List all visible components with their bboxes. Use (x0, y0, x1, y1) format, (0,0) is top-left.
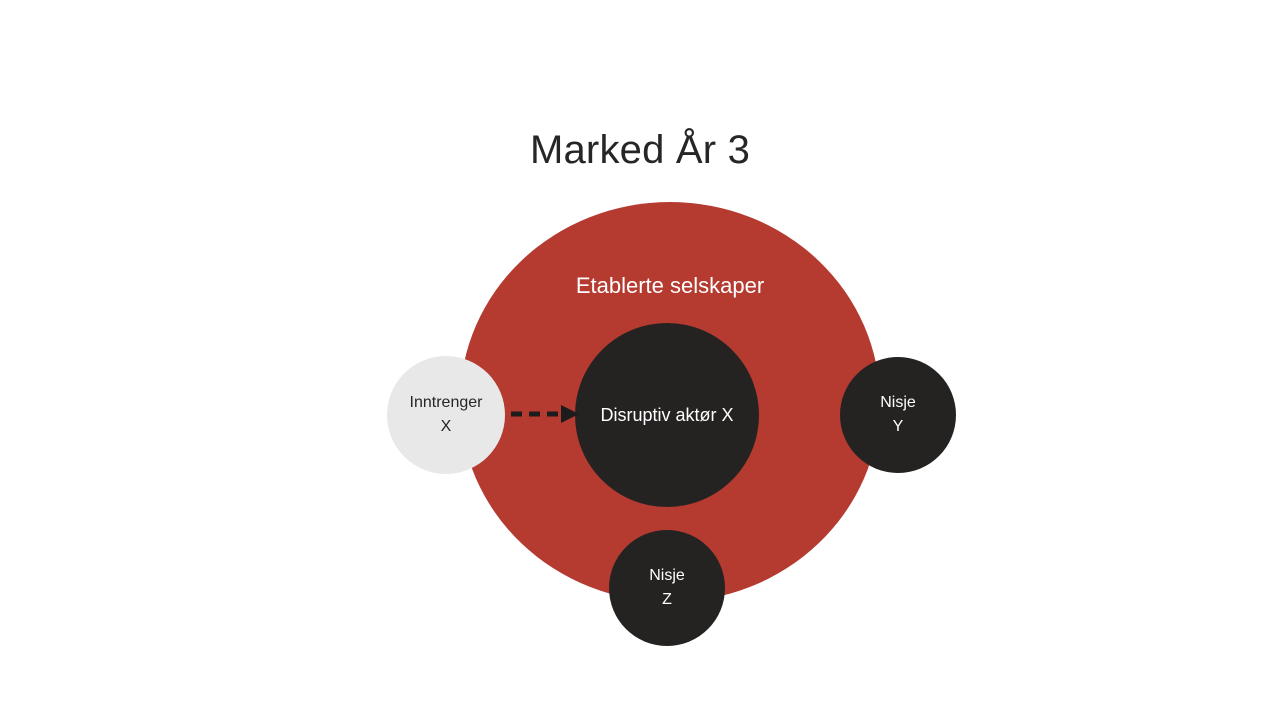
dashed-arrow-icon (505, 396, 585, 432)
connector-intruder-to-disruptor (505, 396, 585, 432)
node-disruptive-actor-x[interactable]: Disruptiv aktør X (575, 323, 759, 507)
node-niche-y-label-line1: Nisje (880, 394, 916, 411)
node-intruder-x[interactable]: Inntrenger X (387, 356, 505, 474)
page-title: Marked År 3 (0, 126, 1280, 174)
node-niche-y-label: Nisje Y (874, 391, 922, 439)
node-niche-z-label-line2: Z (662, 591, 672, 608)
market-bubble-label: Etablerte selskaper (460, 272, 880, 300)
node-niche-y[interactable]: Nisje Y (840, 357, 956, 473)
node-niche-y-label-line2: Y (893, 418, 904, 435)
node-niche-z-label: Nisje Z (643, 564, 691, 612)
node-niche-z[interactable]: Nisje Z (609, 530, 725, 646)
node-intruder-x-label: Inntrenger X (404, 391, 489, 439)
node-disruptive-actor-x-label: Disruptiv aktør X (594, 403, 739, 427)
node-intruder-x-label-line1: Inntrenger (410, 394, 483, 411)
node-intruder-x-label-line2: X (441, 418, 452, 435)
slide-canvas: Marked År 3 Etablerte selskaper Disrupti… (0, 0, 1280, 720)
node-niche-z-label-line1: Nisje (649, 567, 685, 584)
